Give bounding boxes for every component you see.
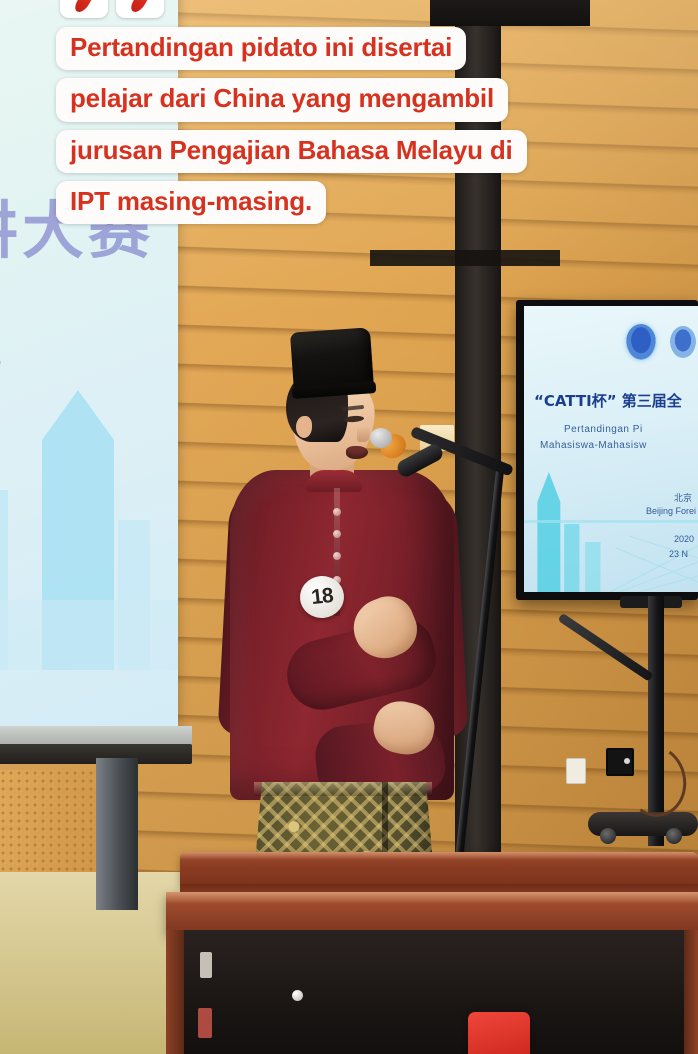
secondary-logo-icon [670, 326, 696, 358]
screen-support-post [96, 758, 138, 910]
podium-right-edge [684, 930, 698, 1054]
slide-subtitle-line1: Pertandingan Pi [564, 424, 698, 435]
presentation-tv: “CATTI杯” 第三届全 Pertandingan Pi Mahasiswa-… [516, 300, 698, 600]
caption-line-1: Pertandingan pidato ini disertai [56, 27, 466, 70]
wall-rail [370, 250, 560, 266]
left-screen-number: -3 [0, 342, 5, 376]
caption-line-4: IPT masing-masing. [56, 181, 326, 224]
podium-left-edge [166, 930, 184, 1054]
caster-wheel-icon [600, 828, 616, 844]
slide-date-day: 23 N [669, 549, 688, 559]
caption-line-3: jurusan Pengajian Bahasa Melayu di [56, 130, 527, 173]
slide-subtitle-line2: Mahasiswa-Mahasisw [540, 440, 698, 451]
slide-date-year: 2020 [674, 534, 694, 544]
songkok-hat [290, 327, 374, 394]
tv-screen: “CATTI杯” 第三届全 Pertandingan Pi Mahasiswa-… [524, 306, 698, 592]
caption-overlay: Pertandingan pidato ini disertai pelajar… [56, 27, 527, 224]
catti-logo-icon [626, 324, 656, 360]
podium-button-icon [292, 990, 303, 1001]
microphone-capsule [370, 428, 392, 448]
shirt-button [333, 530, 341, 538]
mouth [346, 446, 368, 459]
quote-mark-icon [116, 0, 164, 18]
caster-wheel-icon [666, 828, 682, 844]
podium-switch-icon [200, 952, 212, 978]
podium-desktop-highlight [166, 892, 698, 904]
ceiling-beam [430, 0, 590, 26]
slide-cityscape-graphic [524, 462, 698, 592]
podium-front-panel [166, 930, 698, 1054]
caption-line-2: pelajar dari China yang mengambil [56, 78, 508, 121]
projection-screen-roller [0, 726, 192, 746]
projection-cityscape-graphic [0, 350, 178, 670]
sarong-waistband [254, 782, 432, 796]
quote-mark-icon [60, 0, 108, 18]
podium-shelf-highlight [180, 852, 698, 860]
nose [357, 426, 370, 442]
podium-indicator-icon [198, 1008, 212, 1038]
red-object [468, 1012, 530, 1054]
light-switch-icon [566, 758, 586, 784]
slide-organizer-english: Beijing Forei [646, 506, 696, 516]
video-frame: 讲大赛 -3 “CATTI杯” 第三届全 P [0, 0, 698, 1054]
shirt-button [333, 552, 341, 560]
contestant-number: 18 [310, 584, 334, 610]
slide-title: “CATTI杯” 第三届全 [534, 390, 698, 411]
speaker-figure: 18 [224, 330, 474, 890]
slide-organizer-chinese: 北京 [674, 491, 692, 504]
shirt-button [333, 508, 341, 516]
ear [296, 416, 312, 438]
quote-marks [60, 0, 164, 18]
